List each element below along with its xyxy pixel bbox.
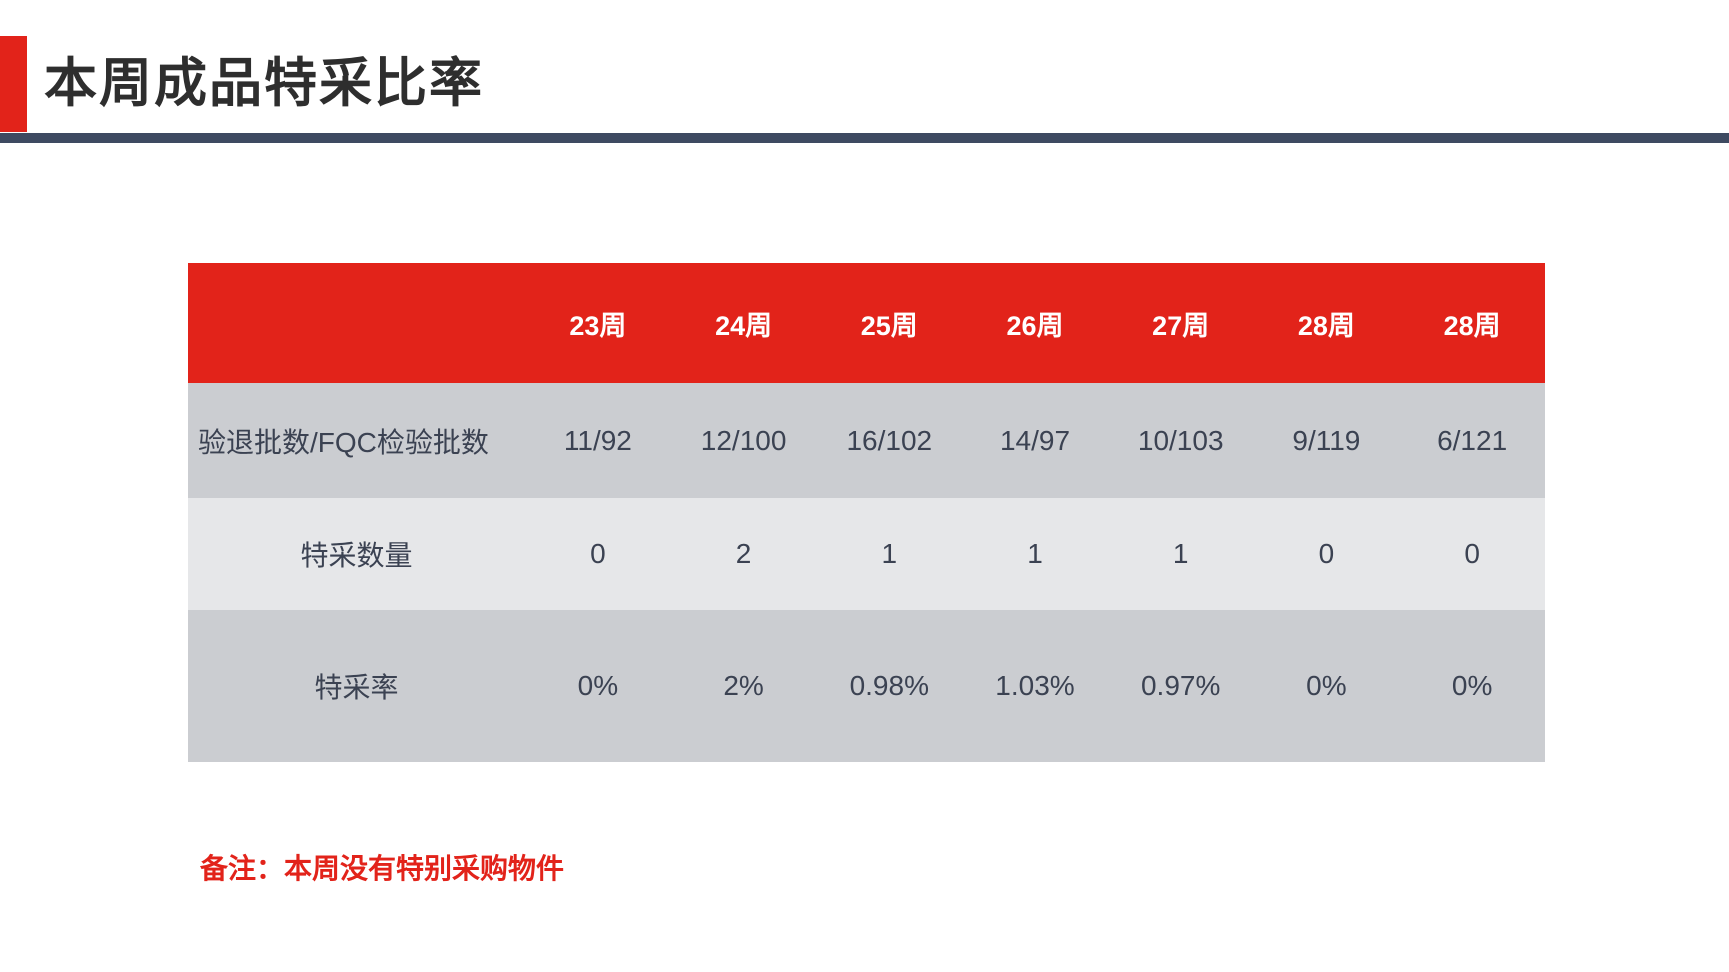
cell-r3-c4: 1.03% [962,610,1108,762]
footnote-note: 备注：本周没有特别采购物件 [200,847,564,887]
cell-r2-c6: 0 [1254,498,1400,610]
special-purchase-ratio-table: 23周 24周 25周 26周 27周 28周 28周 验退批数/FQC检验批数… [188,263,1545,762]
cell-r1-c5: 10/103 [1108,383,1254,498]
cell-r2-c4: 1 [962,498,1108,610]
cell-r1-c7: 6/121 [1399,383,1545,498]
column-header-week-6: 28周 [1254,263,1400,383]
page-title: 本周成品特采比率 [44,48,484,120]
column-header-week-4: 26周 [962,263,1108,383]
table-body: 验退批数/FQC检验批数 11/92 12/100 16/102 14/97 1… [188,383,1545,762]
cell-r2-c7: 0 [1399,498,1545,610]
cell-r2-c2: 2 [671,498,817,610]
column-header-week-5: 27周 [1108,263,1254,383]
cell-r2-c1: 0 [525,498,671,610]
table-row: 特采率 0% 2% 0.98% 1.03% 0.97% 0% 0% [188,610,1545,762]
title-accent-bar [0,36,27,132]
cell-r3-c1: 0% [525,610,671,762]
column-header-week-7: 28周 [1399,263,1545,383]
cell-r2-c3: 1 [816,498,962,610]
column-header-week-3: 25周 [816,263,962,383]
header-divider-rule [0,133,1729,143]
cell-r1-c3: 16/102 [816,383,962,498]
cell-r3-c3: 0.98% [816,610,962,762]
cell-r3-c7: 0% [1399,610,1545,762]
cell-r2-c5: 1 [1108,498,1254,610]
table-row: 特采数量 0 2 1 1 1 0 0 [188,498,1545,610]
cell-r3-c5: 0.97% [1108,610,1254,762]
table-header-row: 23周 24周 25周 26周 27周 28周 28周 [188,263,1545,383]
row-label-special-purchase-count: 特采数量 [188,498,525,610]
cell-r3-c2: 2% [671,610,817,762]
column-header-week-2: 24周 [671,263,817,383]
column-header-week-1: 23周 [525,263,671,383]
row-label-special-purchase-rate: 特采率 [188,610,525,762]
cell-r3-c6: 0% [1254,610,1400,762]
table-row: 验退批数/FQC检验批数 11/92 12/100 16/102 14/97 1… [188,383,1545,498]
cell-r1-c1: 11/92 [525,383,671,498]
row-label-inspection-batches: 验退批数/FQC检验批数 [188,383,525,498]
table-corner-cell [188,263,525,383]
cell-r1-c6: 9/119 [1254,383,1400,498]
slide-header: 本周成品特采比率 [0,0,1729,140]
cell-r1-c4: 14/97 [962,383,1108,498]
cell-r1-c2: 12/100 [671,383,817,498]
table-header: 23周 24周 25周 26周 27周 28周 28周 [188,263,1545,383]
